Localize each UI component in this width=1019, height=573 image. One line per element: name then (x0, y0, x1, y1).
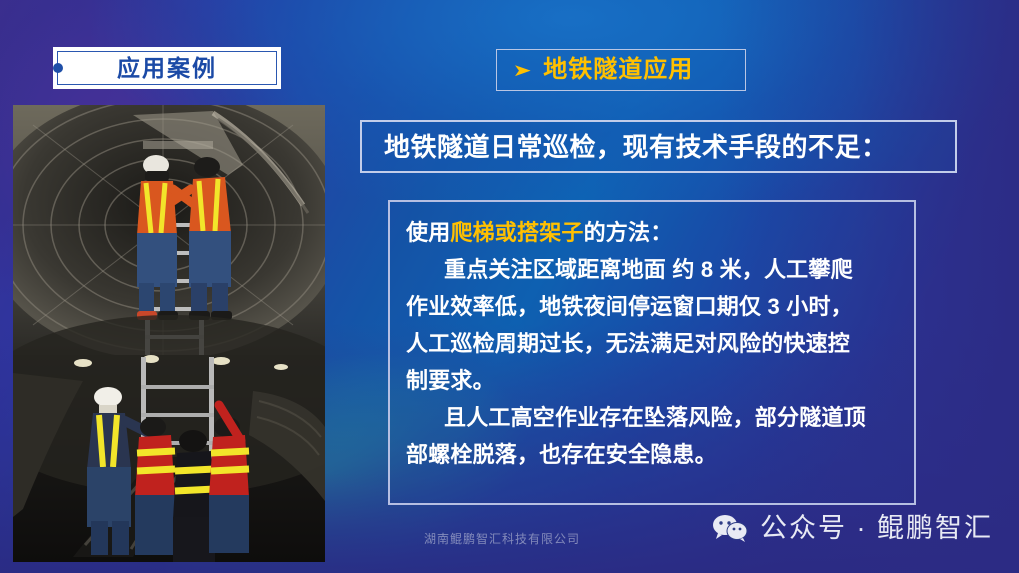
body-line-4: 人工巡检周期过长，无法满足对风险的快速控 (406, 325, 898, 362)
body-line-2: 重点关注区域距离地面 约 8 米，人工攀爬 (406, 251, 898, 288)
wechat-brand: 公众号 · 鲲鹏智汇 (712, 514, 993, 542)
section-title-text: 地铁隧道应用 (543, 58, 693, 82)
body-line-6: 且人工高空作业存在坠落风险，部分隧道顶 (406, 399, 898, 436)
body-line-3: 作业效率低，地铁夜间停运窗口期仅 3 小时， (406, 288, 898, 325)
slide-canvas: 应用案例 (0, 0, 1019, 573)
wechat-icon (712, 514, 748, 542)
tunnel-inspection-photo (13, 105, 325, 562)
body-line-1-prefix: 使用 (406, 220, 450, 245)
arrow-right-icon: ➤ (513, 62, 532, 79)
wechat-brand-text: 公众号 · 鲲鹏智汇 (760, 515, 993, 542)
body-line-5: 制要求。 (406, 362, 898, 399)
body-line-7: 部螺栓脱落，也存在安全隐患。 (406, 436, 898, 473)
subtitle-banner: 地铁隧道日常巡检，现有技术手段的不足： (360, 120, 957, 173)
case-label-inner-frame: 应用案例 (57, 51, 277, 85)
footer-company-text: 湖南鲲鹏智汇科技有限公司 (424, 533, 580, 545)
case-label-text: 应用案例 (117, 57, 217, 80)
body-content-box: 使用爬梯或搭架子的方法： 重点关注区域距离地面 约 8 米，人工攀爬 作业效率低… (388, 200, 916, 505)
bullet-dot-icon (53, 63, 63, 73)
section-title-box: ➤ 地铁隧道应用 (496, 49, 746, 91)
subtitle-text: 地铁隧道日常巡检，现有技术手段的不足： (384, 134, 888, 160)
body-line-1: 使用爬梯或搭架子的方法： (406, 214, 898, 251)
case-label-box: 应用案例 (53, 47, 281, 89)
body-line-1-highlight: 爬梯或搭架子 (450, 220, 583, 245)
body-line-1-suffix: 的方法： (584, 220, 673, 245)
